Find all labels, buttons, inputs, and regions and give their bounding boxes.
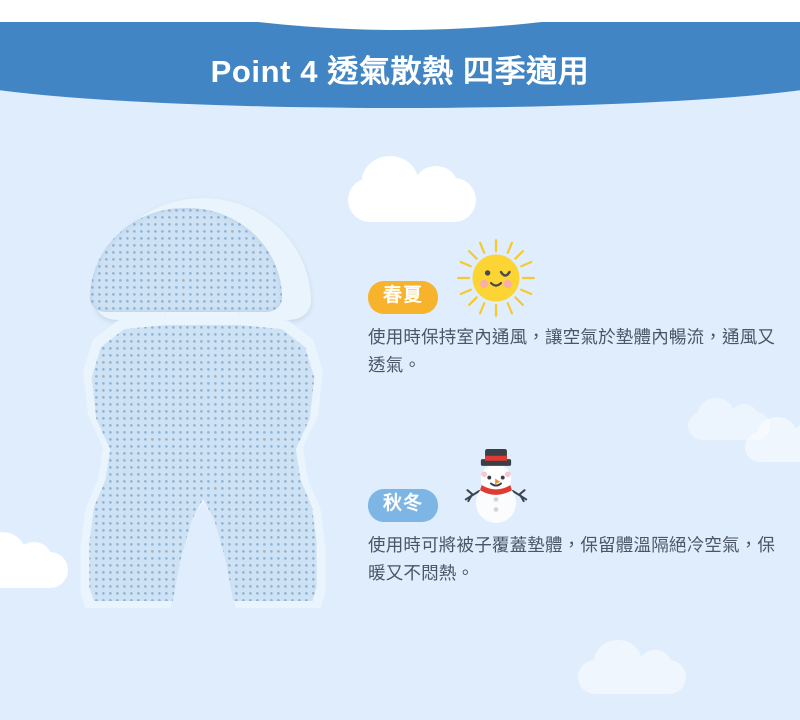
- promo-page: Point 4 透氣散熱 四季適用 春夏: [0, 0, 800, 720]
- snowman-icon: [454, 444, 538, 528]
- cloud-decoration: [348, 178, 476, 222]
- product-image: [78, 198, 328, 608]
- sun-icon: [454, 236, 538, 320]
- cloud-decoration: [578, 660, 686, 694]
- badge-autumn-winter: 秋冬: [368, 489, 438, 522]
- season-description: 使用時可將被子覆蓋墊體，保留體溫隔絕冷空氣，保暖又不悶熱。: [368, 531, 780, 588]
- season-block-autumn-winter: 秋冬: [368, 444, 780, 588]
- season-description: 使用時保持室內通風，讓空氣於墊體內暢流，通風又透氣。: [368, 323, 780, 380]
- badge-spring-summer: 春夏: [368, 281, 438, 314]
- page-title: Point 4 透氣散熱 四季適用: [0, 46, 800, 91]
- season-header: 秋冬: [368, 444, 780, 522]
- header-top-strip: [0, 0, 800, 22]
- cloud-decoration: [0, 552, 68, 588]
- season-block-spring-summer: 春夏: [368, 236, 780, 380]
- seat-pad-mesh: [87, 325, 319, 601]
- season-header: 春夏: [368, 236, 780, 314]
- season-info-list: 春夏: [368, 236, 780, 587]
